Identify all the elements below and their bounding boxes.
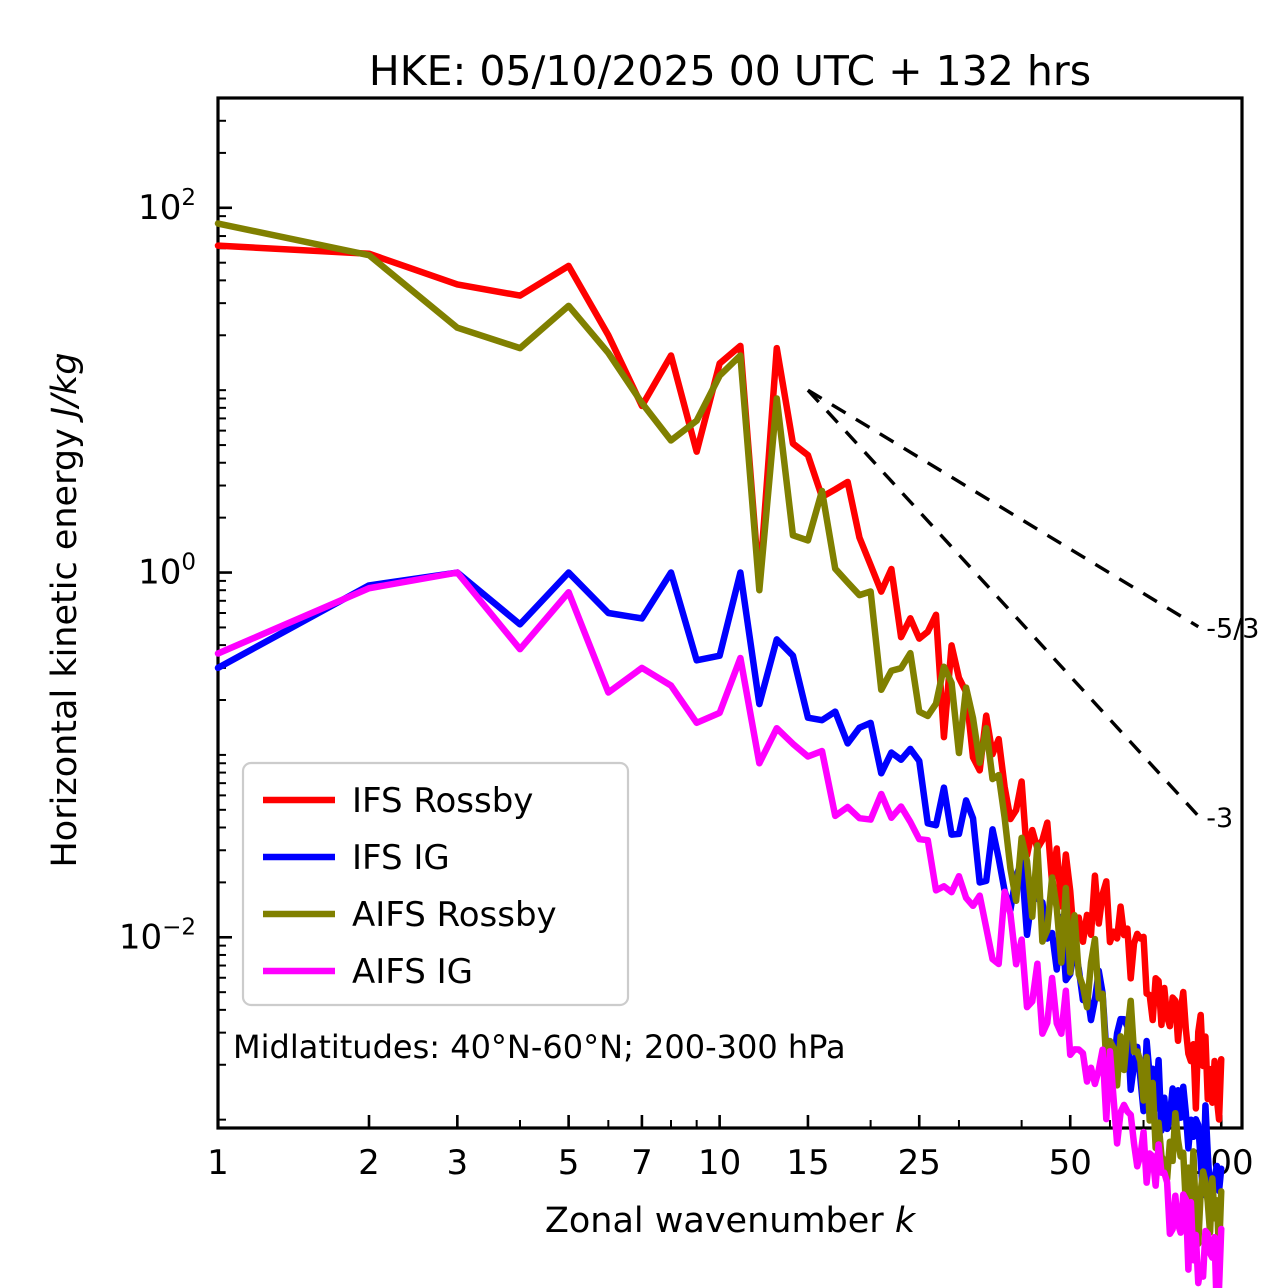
- x-tick-label: 1: [207, 1143, 229, 1183]
- legend-label-aifs-ig: AIFS IG: [352, 952, 473, 992]
- reference-line-label: -5/3: [1206, 614, 1259, 645]
- y-axis-label: Horizontal kinetic energy J/kg: [45, 352, 85, 867]
- x-axis-ticks: 1235710152550100: [207, 1115, 1254, 1183]
- x-tick-label: 10: [698, 1143, 741, 1183]
- chart-legend[interactable]: IFS RossbyIFS IGAIFS RossbyAIFS IG: [243, 763, 628, 1005]
- x-tick-label: 5: [558, 1143, 580, 1183]
- x-tick-label: 2: [358, 1143, 380, 1183]
- y-axis-ticks: 10210010−2: [119, 98, 232, 1128]
- y-tick-label: 100: [138, 550, 196, 593]
- x-tick-label: 15: [786, 1143, 829, 1183]
- legend-label-ifs-ig: IFS IG: [352, 838, 450, 878]
- chart-svg: HKE: 05/10/2025 00 UTC + 132 hrs Zonal w…: [0, 0, 1280, 1288]
- x-tick-label: 50: [1049, 1143, 1092, 1183]
- x-tick-label: 25: [898, 1143, 941, 1183]
- legend-label-aifs-rossby: AIFS Rossby: [352, 895, 557, 935]
- figure-canvas: HKE: 05/10/2025 00 UTC + 132 hrs Zonal w…: [0, 0, 1280, 1288]
- reference-line-label: -3: [1206, 803, 1233, 834]
- chart-title: HKE: 05/10/2025 00 UTC + 132 hrs: [369, 47, 1091, 95]
- series-line-aifs-rossby: [218, 224, 1221, 1253]
- y-axis-label-italic: J/kg: [45, 352, 85, 423]
- x-axis-label-italic: k: [895, 1201, 917, 1241]
- y-axis-label-plain: Horizontal kinetic energy: [45, 417, 85, 867]
- x-tick-label: 7: [631, 1143, 653, 1183]
- region-annotation: Midlatitudes: 40°N-60°N; 200-300 hPa: [233, 1028, 846, 1066]
- x-axis-label-plain: Zonal wavenumber: [545, 1201, 895, 1241]
- y-tick-label: 102: [138, 185, 196, 228]
- y-tick-label: 10−2: [119, 914, 196, 957]
- x-axis-label: Zonal wavenumber k: [545, 1201, 917, 1241]
- legend-label-ifs-rossby: IFS Rossby: [352, 781, 533, 821]
- x-tick-label: 3: [447, 1143, 469, 1183]
